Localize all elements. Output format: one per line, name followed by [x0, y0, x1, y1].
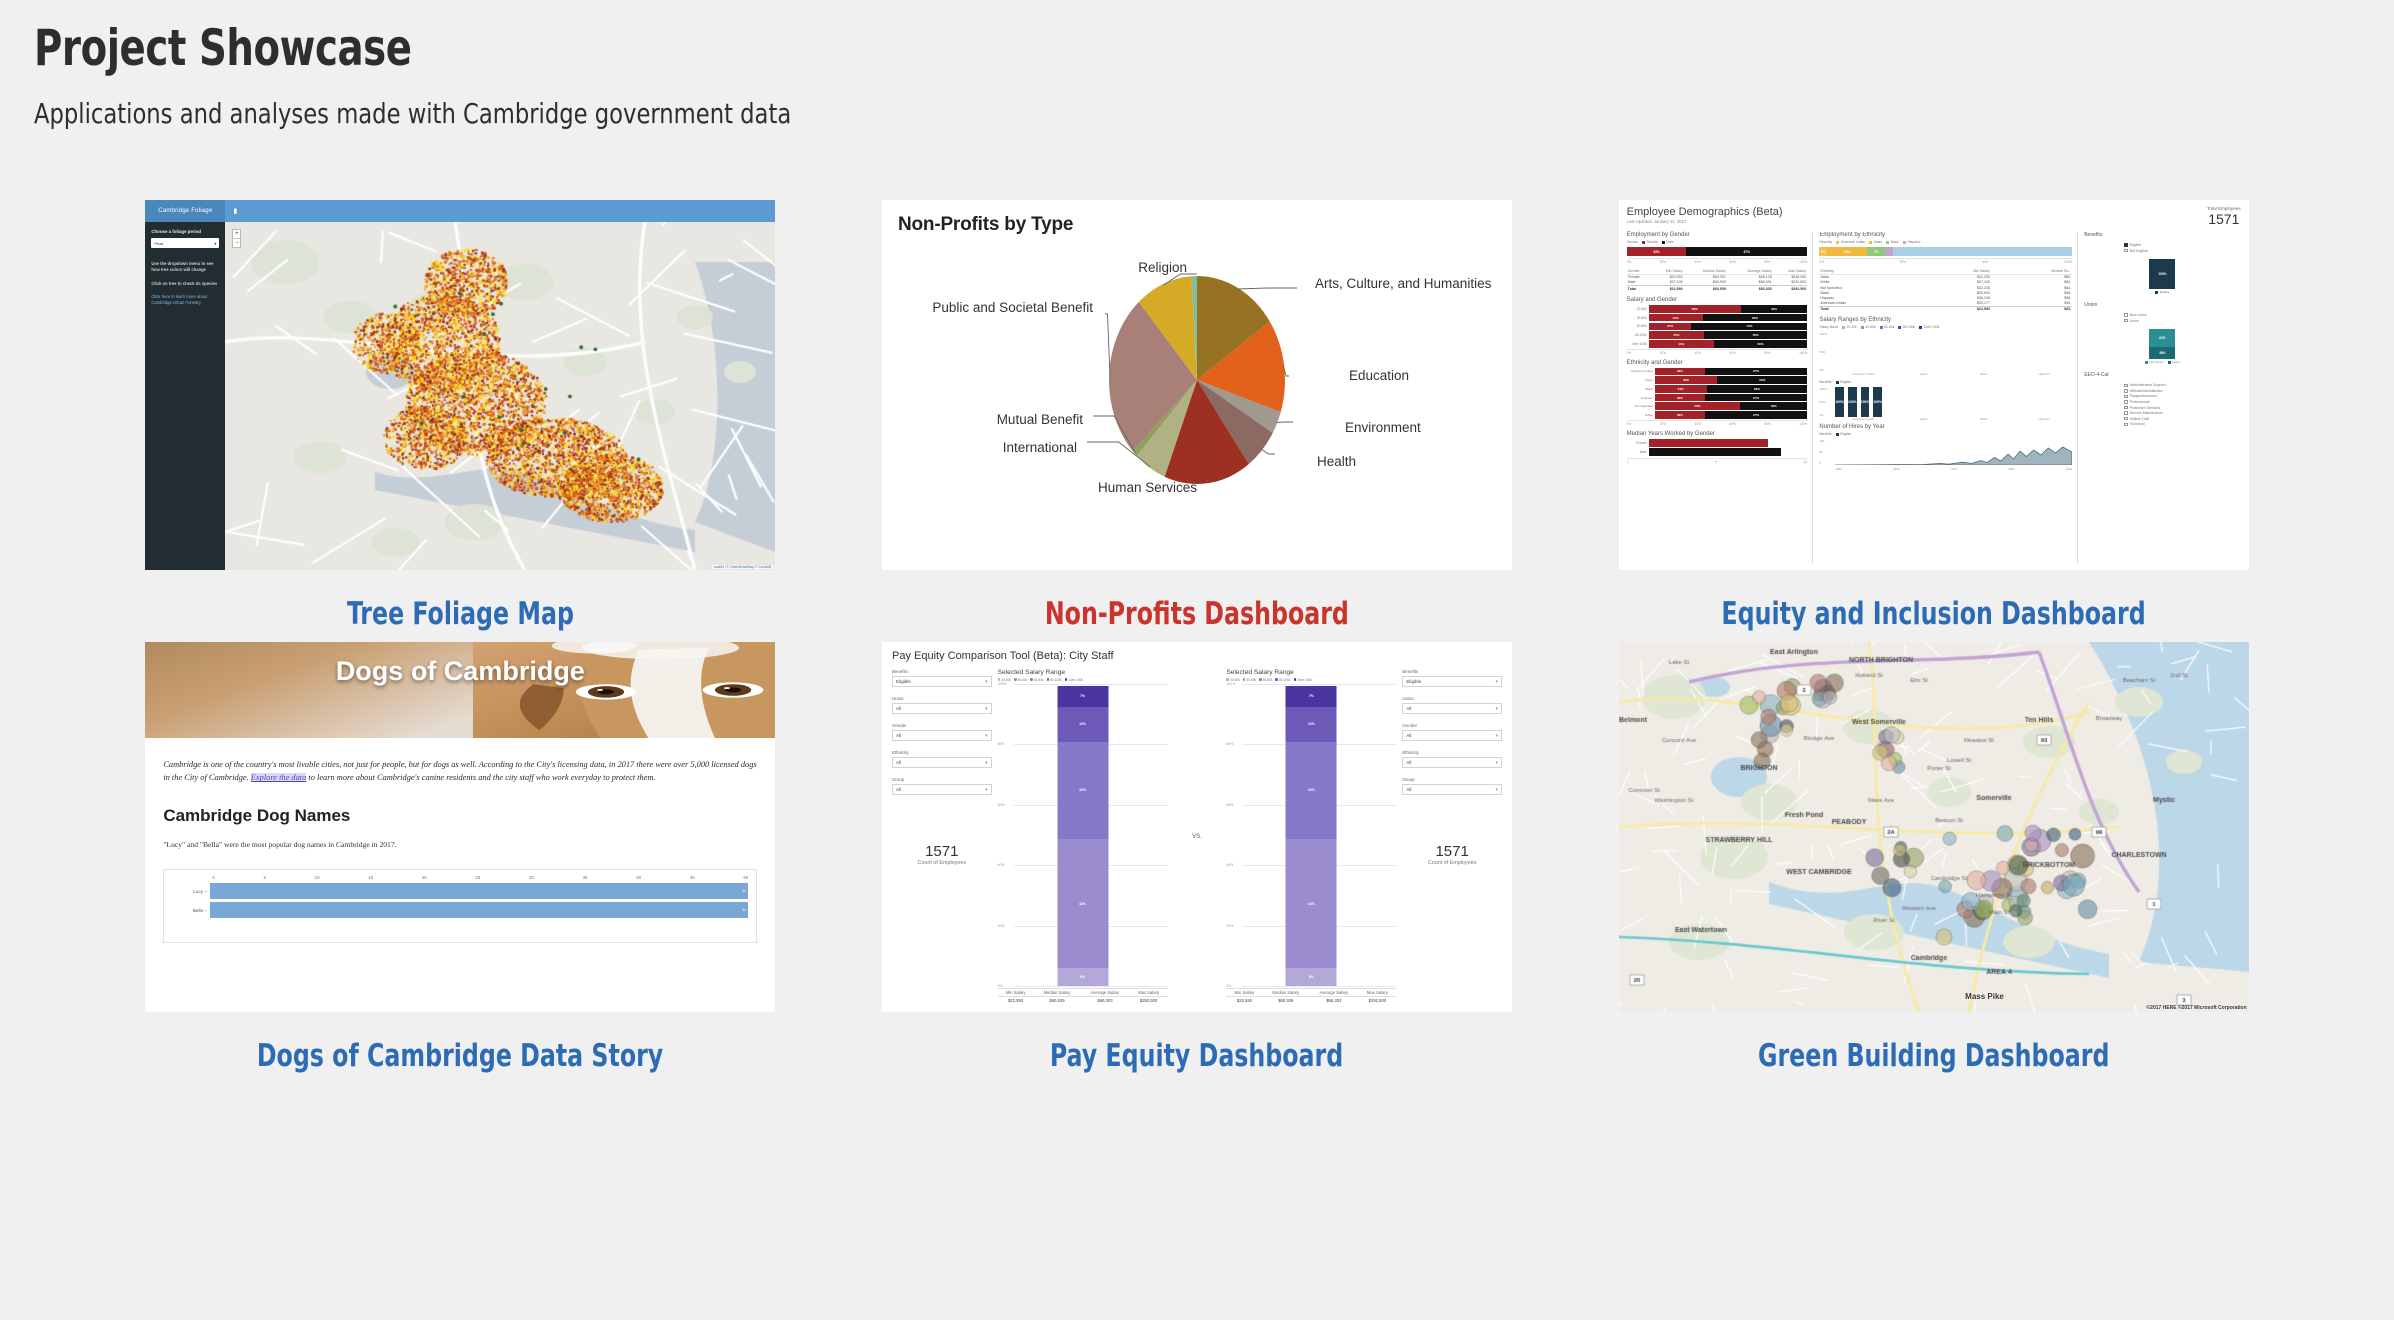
map-zoom-control[interactable]: + − [232, 229, 241, 248]
equity-bars-benefits: 100%100%100%100% [1835, 387, 1882, 417]
equity-legend-benefits-chart: Benefits Eligible [1819, 380, 2072, 384]
median-years-row: Male [1627, 448, 1808, 456]
page-title: Project Showcase [34, 22, 2064, 75]
chevron-down-icon: ▾ [985, 733, 988, 739]
foliage-brand: Cambridge Foliage [145, 200, 225, 222]
pay-equity-title: Pay Equity Comparison Tool (Beta): City … [892, 650, 1502, 662]
stack-seg-20-40k: 6% [1057, 968, 1108, 986]
filter-union: Union All ▾ [892, 696, 992, 714]
ethnicity-gender-row: Asian 40% 59% [1627, 376, 1808, 384]
chevron-down-icon: ▾ [1495, 787, 1498, 793]
filter-chart-legend-union: Non-Union Union [2084, 360, 2240, 364]
equity-stacked-bars-salary-ranges [1835, 332, 1847, 372]
union-bar-non-union: 64% [2149, 329, 2175, 347]
ethnicity-bar-segment-4 [1893, 247, 2073, 256]
thumbnail-pay-equity-dashboard[interactable]: Pay Equity Comparison Tool (Beta): City … [882, 642, 1512, 1012]
panel-title-left: Selected Salary Range [998, 669, 1168, 676]
pie-leader-line-7 [1105, 314, 1110, 375]
salary-gender-row: 80-100k 35% 65% [1627, 331, 1808, 339]
equity-axis-employment-ethnicity: 0% 20% 40% 100% [1819, 258, 2072, 264]
filter-group: Group All ▾ [892, 777, 992, 795]
project-card-green-building-dashboard[interactable]: Mass Pike ©2017 HERE ©2017 Microsoft Cor… [1565, 642, 2302, 972]
legend-female: Female [1646, 240, 1657, 244]
thumbnail-tree-foliage-map[interactable]: Cambridge Foliage ▮ Choose a foliage per… [145, 200, 775, 570]
panel-chart-left: 100%80%60%40%20%0%7%12%33%44%6% [998, 684, 1168, 986]
stacked-bar: 7%12%33%44%6% [1286, 686, 1337, 986]
map-attribution: Leaflet | © OpenStreetMap © CartoDB [712, 565, 774, 569]
median-years-row: Female [1627, 439, 1808, 447]
equity-bars-salary-gender: 20-40k 58% 42% 40-60k 34% 66% 60-80k 27%… [1627, 305, 1808, 347]
equity-section-employment-gender: Employment by Gender [1627, 232, 1808, 238]
select-benefits[interactable]: Eligible ▾ [1402, 676, 1502, 687]
map-label-mass-pike: Mass Pike [1965, 992, 2004, 1001]
legend-label: Gender [1627, 240, 1638, 244]
pie-label-1: Education [1349, 368, 1409, 383]
equity-axis-salary-gender: 0% 20% 40% 60% 80% 100% [1627, 349, 1808, 355]
ethnicity-gender-row: Black 34% 66% [1627, 385, 1808, 393]
select-benefits[interactable]: Eligible ▾ [892, 676, 992, 687]
select-union[interactable]: All ▾ [1402, 703, 1502, 714]
equity-total-value: 1571 [2207, 211, 2241, 227]
foliage-navbar: Cambridge Foliage ▮ [145, 200, 775, 222]
project-grid: Cambridge Foliage ▮ Choose a foliage per… [0, 200, 2394, 972]
select-ethnicity[interactable]: All ▾ [1402, 757, 1502, 768]
filter-option-not-eligible[interactable]: Not Eligible [2124, 249, 2240, 255]
pie-leader-line-0 [1238, 288, 1297, 289]
nonprofits-pie-wrap: Arts, Culture, and HumanitiesEducationEn… [882, 240, 1512, 562]
panel-legend-left: 20-40k40-60k60-80k80-100kOver 100k [998, 678, 1168, 682]
filter-ethnicity: Ethnicity All ▾ [1402, 750, 1502, 768]
thumbnail-non-profits-dashboard[interactable]: Non-Profits by Type Arts, Culture, and H… [882, 200, 1512, 570]
dogs-paragraph-post: to learn more about Cambridge's canine r… [306, 773, 655, 782]
chevron-down-icon: ▾ [985, 679, 988, 685]
filter-chart-legend-benefits: Eligible [2084, 290, 2240, 294]
foliage-note-1: Click on tree to check its species [151, 281, 219, 287]
ethnicity-gender-row: American Indian 33% 67% [1627, 368, 1808, 376]
equity-column-middle: Employment by Ethnicity EthnicityAmerica… [1819, 232, 2078, 564]
filter-title-union: Union [2084, 302, 2240, 308]
ethnicity-gender-row: White 32% 67% [1627, 411, 1808, 419]
filter-title-eeo: EEO-4-Cat [2084, 372, 2240, 378]
stack-seg-60-80k: 33% [1286, 742, 1337, 839]
filter-chart-union: 64% 36% [2149, 329, 2175, 359]
green-building-map[interactable]: Mass Pike ©2017 HERE ©2017 Microsoft Cor… [1619, 642, 2249, 1012]
equity-section-hires-by-year: Number of Hires by Year [1819, 424, 2072, 430]
select-group[interactable]: All ▾ [892, 784, 992, 795]
card-caption-green-building-dashboard[interactable]: Green Building Dashboard [1758, 1038, 2109, 1074]
dogs-chart-xaxis: 05101520253035404550 [212, 875, 748, 880]
filter-list-union[interactable]: Non-Union Union [2084, 313, 2240, 324]
pay-equity-table-right: Min Salary Median Salary Average Salary … [1226, 988, 1396, 1004]
thumbnail-green-building-dashboard[interactable]: Mass Pike ©2017 HERE ©2017 Microsoft Cor… [1619, 642, 2249, 1012]
stack-seg-Over 100k: 7% [1286, 686, 1337, 707]
dogs-chart-bars: Lucy – 51Bella – 51 [172, 883, 748, 918]
equity-bars-median-years: Female Male [1627, 439, 1808, 457]
equity-total-employees: Total Employees 1571 [2207, 206, 2241, 227]
chevron-down-icon: ▾ [1495, 679, 1498, 685]
foliage-period-select[interactable]: Peak ▾ [151, 238, 219, 248]
nonprofits-pie-chart: Arts, Culture, and HumanitiesEducationEn… [897, 240, 1497, 530]
ethnicity-bar-segment-1: 16% [1827, 247, 1867, 256]
select-group[interactable]: All ▾ [1402, 784, 1502, 795]
foliage-select-label: Choose a foliage period [151, 229, 219, 234]
benefits-bar-100: 100% [2149, 259, 2175, 289]
equity-axis-employment-gender: 0% 20% 40% 60% 80% 100% [1627, 258, 1808, 264]
dogs-bar-row: Lucy – 51 [172, 883, 748, 899]
explore-the-data-link[interactable]: Explore the data [251, 773, 307, 782]
green-building-map-canvas [1619, 642, 2249, 1012]
table-total-row: Total $22,593 $60,939 $66,303 $292,500 [1627, 286, 1808, 292]
panel-legend-right: 20-40k40-60k60-80k80-100kOver 100k [1226, 678, 1396, 682]
equity-section-salary-gender: Salary and Gender [1627, 297, 1808, 303]
equity-section-ethnicity-gender: Ethnicity and Gender [1627, 360, 1808, 366]
panel-chart-right: 100%80%60%40%20%0%7%12%33%44%6% [1226, 684, 1396, 986]
chevron-down-icon: ▾ [1495, 733, 1498, 739]
equity-column-filters: Benefits Eligible Not Eligible 100% Elig… [2084, 232, 2240, 564]
equity-subtitle: Last Updated: January 24, 2017 [1627, 219, 1783, 224]
dogs-section-title: Cambridge Dog Names [163, 806, 757, 826]
table-header-row: Min Salary Median Salary Average Salary … [1226, 989, 1396, 997]
nonprofits-chart-title: Non-Profits by Type [898, 214, 1496, 236]
stacked-bar: 7%12%33%44%6% [1057, 686, 1108, 986]
pay-equity-filters-left[interactable]: Benefits Eligible ▾ Union All ▾ Gender A… [892, 669, 992, 1004]
select-union[interactable]: All ▾ [892, 703, 992, 714]
equity-section-median-years: Median Years Worked by Gender [1627, 431, 1808, 437]
ethnicity-bar-segment-3 [1885, 247, 1893, 256]
count-of-employees: 1571 Count of Employees [1402, 843, 1502, 866]
salary-gender-row: 40-60k 34% 66% [1627, 314, 1808, 322]
chevron-down-icon: ▾ [214, 241, 216, 246]
foliage-map[interactable]: + − Leaflet | © OpenStreetMap © CartoDB [225, 222, 775, 570]
table-row: $22,593 $60,939 $66,303 $292,500 [998, 997, 1168, 1005]
equity-area-chart-hires [1835, 439, 2072, 465]
equity-section-salary-ranges-ethnicity: Salary Ranges by Ethnicity [1819, 317, 2072, 323]
equity-axis-median-years: 0 5 10 [1627, 458, 1808, 464]
benefits-bar-2: 100% [1861, 387, 1870, 417]
pie-leader-line-3 [1261, 449, 1275, 454]
card-caption-dogs-of-cambridge[interactable]: Dogs of Cambridge Data Story [257, 1038, 663, 1074]
benefits-bar-1: 100% [1848, 387, 1857, 417]
filter-group: Group All ▾ [1402, 777, 1502, 795]
equity-categories-benefits: American IndianAsianBlackHispanic [1835, 417, 2072, 421]
thumbnail-dogs-of-cambridge[interactable]: Dogs of Cambridge Cambridge is one of th… [145, 642, 775, 1012]
project-card-pay-equity-dashboard[interactable]: Pay Equity Comparison Tool (Beta): City … [829, 642, 1566, 972]
benefits-bar-0: 100% [1835, 387, 1844, 417]
pay-equity-vs-label: VS. [1174, 669, 1221, 1004]
dogs-intro-paragraph: Cambridge is one of the country's most l… [163, 758, 757, 784]
stack-seg-80-100k: 12% [1286, 707, 1337, 742]
salary-gender-row: 60-80k 27% 73% [1627, 323, 1808, 331]
dogs-hero-title: Dogs of Cambridge [145, 656, 775, 687]
chevron-down-icon: ▾ [985, 760, 988, 766]
nonprofits-chart-panel: Non-Profits by Type Arts, Culture, and H… [882, 200, 1512, 570]
filter-list-eeo[interactable]: Administrative SupportOfficial/Administr… [2084, 383, 2240, 428]
pie-label-5: International [1003, 440, 1077, 455]
page-subtitle: Applications and analyses made with Camb… [34, 97, 2158, 131]
equity-legend-hires: Benefits Eligible [1819, 432, 2072, 436]
benefits-bar-3: 100% [1873, 387, 1882, 417]
filter-chart-benefits: 100% [2149, 259, 2175, 289]
table-total-row: Total $22,593 $60, [1819, 306, 2072, 312]
pay-equity-dashboard: Pay Equity Comparison Tool (Beta): City … [882, 642, 1512, 1012]
select-gender[interactable]: All ▾ [892, 730, 992, 741]
dogs-bar-row: Bella – 51 [172, 902, 748, 918]
table-header-row: Min Salary Median Salary Average Salary … [998, 989, 1168, 997]
equity-yaxis-benefits: 100% 50% 0% [1819, 387, 1833, 417]
filter-option-eeo[interactable]: Technical [2124, 422, 2240, 428]
card-caption-non-profits-dashboard[interactable]: Non-Profits Dashboard [1045, 596, 1349, 632]
filter-benefits: Benefits Eligible ▾ [1402, 669, 1502, 687]
card-caption-equity-inclusion-dashboard[interactable]: Equity and Inclusion Dashboard [1722, 596, 2146, 632]
stack-seg-80-100k: 12% [1057, 707, 1108, 742]
equity-yaxis-hires: 100 50 0 [1819, 439, 1833, 465]
ethnicity-bar-segment-2: 7% [1867, 247, 1885, 256]
foliage-app: Cambridge Foliage ▮ Choose a foliage per… [145, 200, 775, 570]
pay-equity-filters-right[interactable]: Benefits Eligible ▾ Union All ▾ Gender A… [1402, 669, 1502, 1004]
filter-ethnicity: Ethnicity All ▾ [892, 750, 992, 768]
pay-equity-panel-left: Selected Salary Range 20-40k40-60k60-80k… [998, 669, 1168, 1004]
project-card-tree-foliage-map[interactable]: Cambridge Foliage ▮ Choose a foliage per… [92, 200, 829, 530]
filter-list-benefits[interactable]: Eligible Not Eligible [2084, 243, 2240, 254]
foliage-note-0: Use the dropdown menu to see how tree co… [151, 261, 219, 274]
filter-gender: Gender All ▾ [1402, 723, 1502, 741]
equity-bars-ethnicity-gender: American Indian 33% 67% Asian 40% 59% Bl… [1627, 368, 1808, 419]
dogs-names-chart: 05101520253035404550 Lucy – 51Bella – 51 [163, 869, 757, 943]
thumbnail-equity-inclusion-dashboard[interactable]: Employee Demographics (Beta) Last Update… [1619, 200, 2249, 570]
stack-seg-20-40k: 6% [1286, 968, 1337, 986]
stack-seg-40-60k: 44% [1286, 839, 1337, 968]
page-header: Project Showcase Applications and analys… [0, 0, 2394, 130]
dogs-story: Dogs of Cambridge Cambridge is one of th… [145, 642, 775, 1012]
ethnicity-bar-segment-0: 3% [1819, 247, 1827, 256]
hamburger-icon[interactable]: ▮ [233, 207, 237, 215]
filter-union: Union All ▾ [1402, 696, 1502, 714]
foliage-note-2[interactable]: Click here to learn more about Cambridge… [151, 294, 219, 307]
salary-gender-row: 20-40k 58% 42% [1627, 305, 1808, 313]
project-card-dogs-of-cambridge[interactable]: Dogs of Cambridge Cambridge is one of th… [92, 642, 829, 972]
project-card-equity-inclusion-dashboard[interactable]: Employee Demographics (Beta) Last Update… [1565, 200, 2302, 530]
dogs-hero-image: Dogs of Cambridge [145, 642, 775, 738]
project-card-non-profits-dashboard[interactable]: Non-Profits by Type Arts, Culture, and H… [829, 200, 1566, 530]
filter-title-benefits: Benefits [2084, 232, 2240, 238]
map-attribution: ©2017 HERE ©2017 Microsoft Corporation [2146, 1005, 2246, 1011]
filter-benefits: Benefits Eligible ▾ [892, 669, 992, 687]
card-caption-pay-equity-dashboard[interactable]: Pay Equity Dashboard [1050, 1038, 1343, 1074]
chevron-down-icon: ▾ [985, 706, 988, 712]
select-gender[interactable]: All ▾ [1402, 730, 1502, 741]
chevron-down-icon: ▾ [1495, 760, 1498, 766]
zoom-out-button[interactable]: − [233, 238, 240, 247]
filter-gender: Gender All ▾ [892, 723, 992, 741]
table-row: $22,593 $60,939 $66,303 $292,500 [1226, 997, 1396, 1005]
bar-segment-female: 33% [1627, 247, 1687, 256]
bar-segment-male: 67% [1686, 247, 1807, 256]
salary-gender-row: Over 100k 41% 59% [1627, 340, 1808, 348]
equity-gender-salary-table: Gender Min Salary Median Salary Average … [1627, 269, 1808, 292]
equity-bar-employment-gender: 33% 67% [1627, 247, 1808, 256]
equity-column-left: Employment by Gender Gender Female Male … [1627, 232, 1814, 564]
ethnicity-gender-row: Hispanic 32% 67% [1627, 394, 1808, 402]
equity-xaxis-hires: 19501960197019801990 [1835, 467, 2072, 471]
foliage-tree-canvas [225, 222, 775, 570]
ethnicity-gender-row: Not Specified 56% 43% [1627, 402, 1808, 410]
equity-dashboard: Employee Demographics (Beta) Last Update… [1619, 200, 2249, 570]
pie-label-2: Environment [1345, 420, 1421, 435]
equity-title: Employee Demographics (Beta) [1627, 206, 1783, 218]
equity-categories-salary-ranges: American IndianAsianBlackHispanic [1835, 372, 2072, 376]
chevron-down-icon: ▾ [1495, 706, 1498, 712]
pie-label-0: Arts, Culture, and Humanities [1315, 276, 1492, 291]
pie-label-8: Religion [1138, 260, 1187, 275]
pay-equity-panel-right: Selected Salary Range 20-40k40-60k60-80k… [1226, 669, 1396, 1004]
panel-title-right: Selected Salary Range [1226, 669, 1396, 676]
equity-bar-employment-ethnicity: 3%16%7% [1819, 247, 2072, 256]
equity-axis-ethnicity-gender: 0% 20% 40% 60% 80% 100% [1627, 420, 1808, 426]
pie-label-4: Human Services [1098, 480, 1197, 495]
equity-legend-salary-band: Salary Band20-40k40-60k60-80k80-100kOver… [1819, 325, 2072, 329]
stack-seg-60-80k: 33% [1057, 742, 1108, 839]
pay-equity-table-left: Min Salary Median Salary Average Salary … [998, 988, 1168, 1004]
foliage-sidebar: Choose a foliage period Peak ▾ Use the d… [145, 222, 225, 570]
equity-legend-ethnicity: EthnicityAmerican IndianAsianBlackHispan… [1819, 240, 2072, 244]
filter-option-union[interactable]: Union [2124, 319, 2240, 325]
stack-seg-Over 100k: 7% [1057, 686, 1108, 707]
count-of-employees: 1571 Count of Employees [892, 843, 992, 866]
dogs-section-caption: "Lucy" and "Bella" were the most popular… [163, 840, 757, 849]
union-bar-union: 36% [2149, 347, 2175, 359]
equity-yaxis-salary-ranges: 100% 50% 0% [1819, 332, 1833, 372]
stack-seg-40-60k: 44% [1057, 839, 1108, 968]
foliage-period-value: Peak [154, 241, 163, 246]
equity-section-employment-ethnicity: Employment by Ethnicity [1819, 232, 2072, 238]
equity-ethnicity-salary-table: Ethnicity Min Salary Median Sa... Asian$… [1819, 269, 2072, 313]
pie-label-7: Public and Societal Benefit [932, 300, 1093, 315]
select-ethnicity[interactable]: All ▾ [892, 757, 992, 768]
zoom-in-button[interactable]: + [233, 230, 240, 238]
pie-label-3: Health [1317, 454, 1356, 469]
equity-legend-gender: Gender Female Male [1627, 240, 1808, 244]
card-caption-tree-foliage-map[interactable]: Tree Foliage Map [347, 596, 574, 632]
chevron-down-icon: ▾ [985, 787, 988, 793]
legend-male: Male [1666, 240, 1673, 244]
pie-label-6: Mutual Benefit [997, 412, 1084, 427]
